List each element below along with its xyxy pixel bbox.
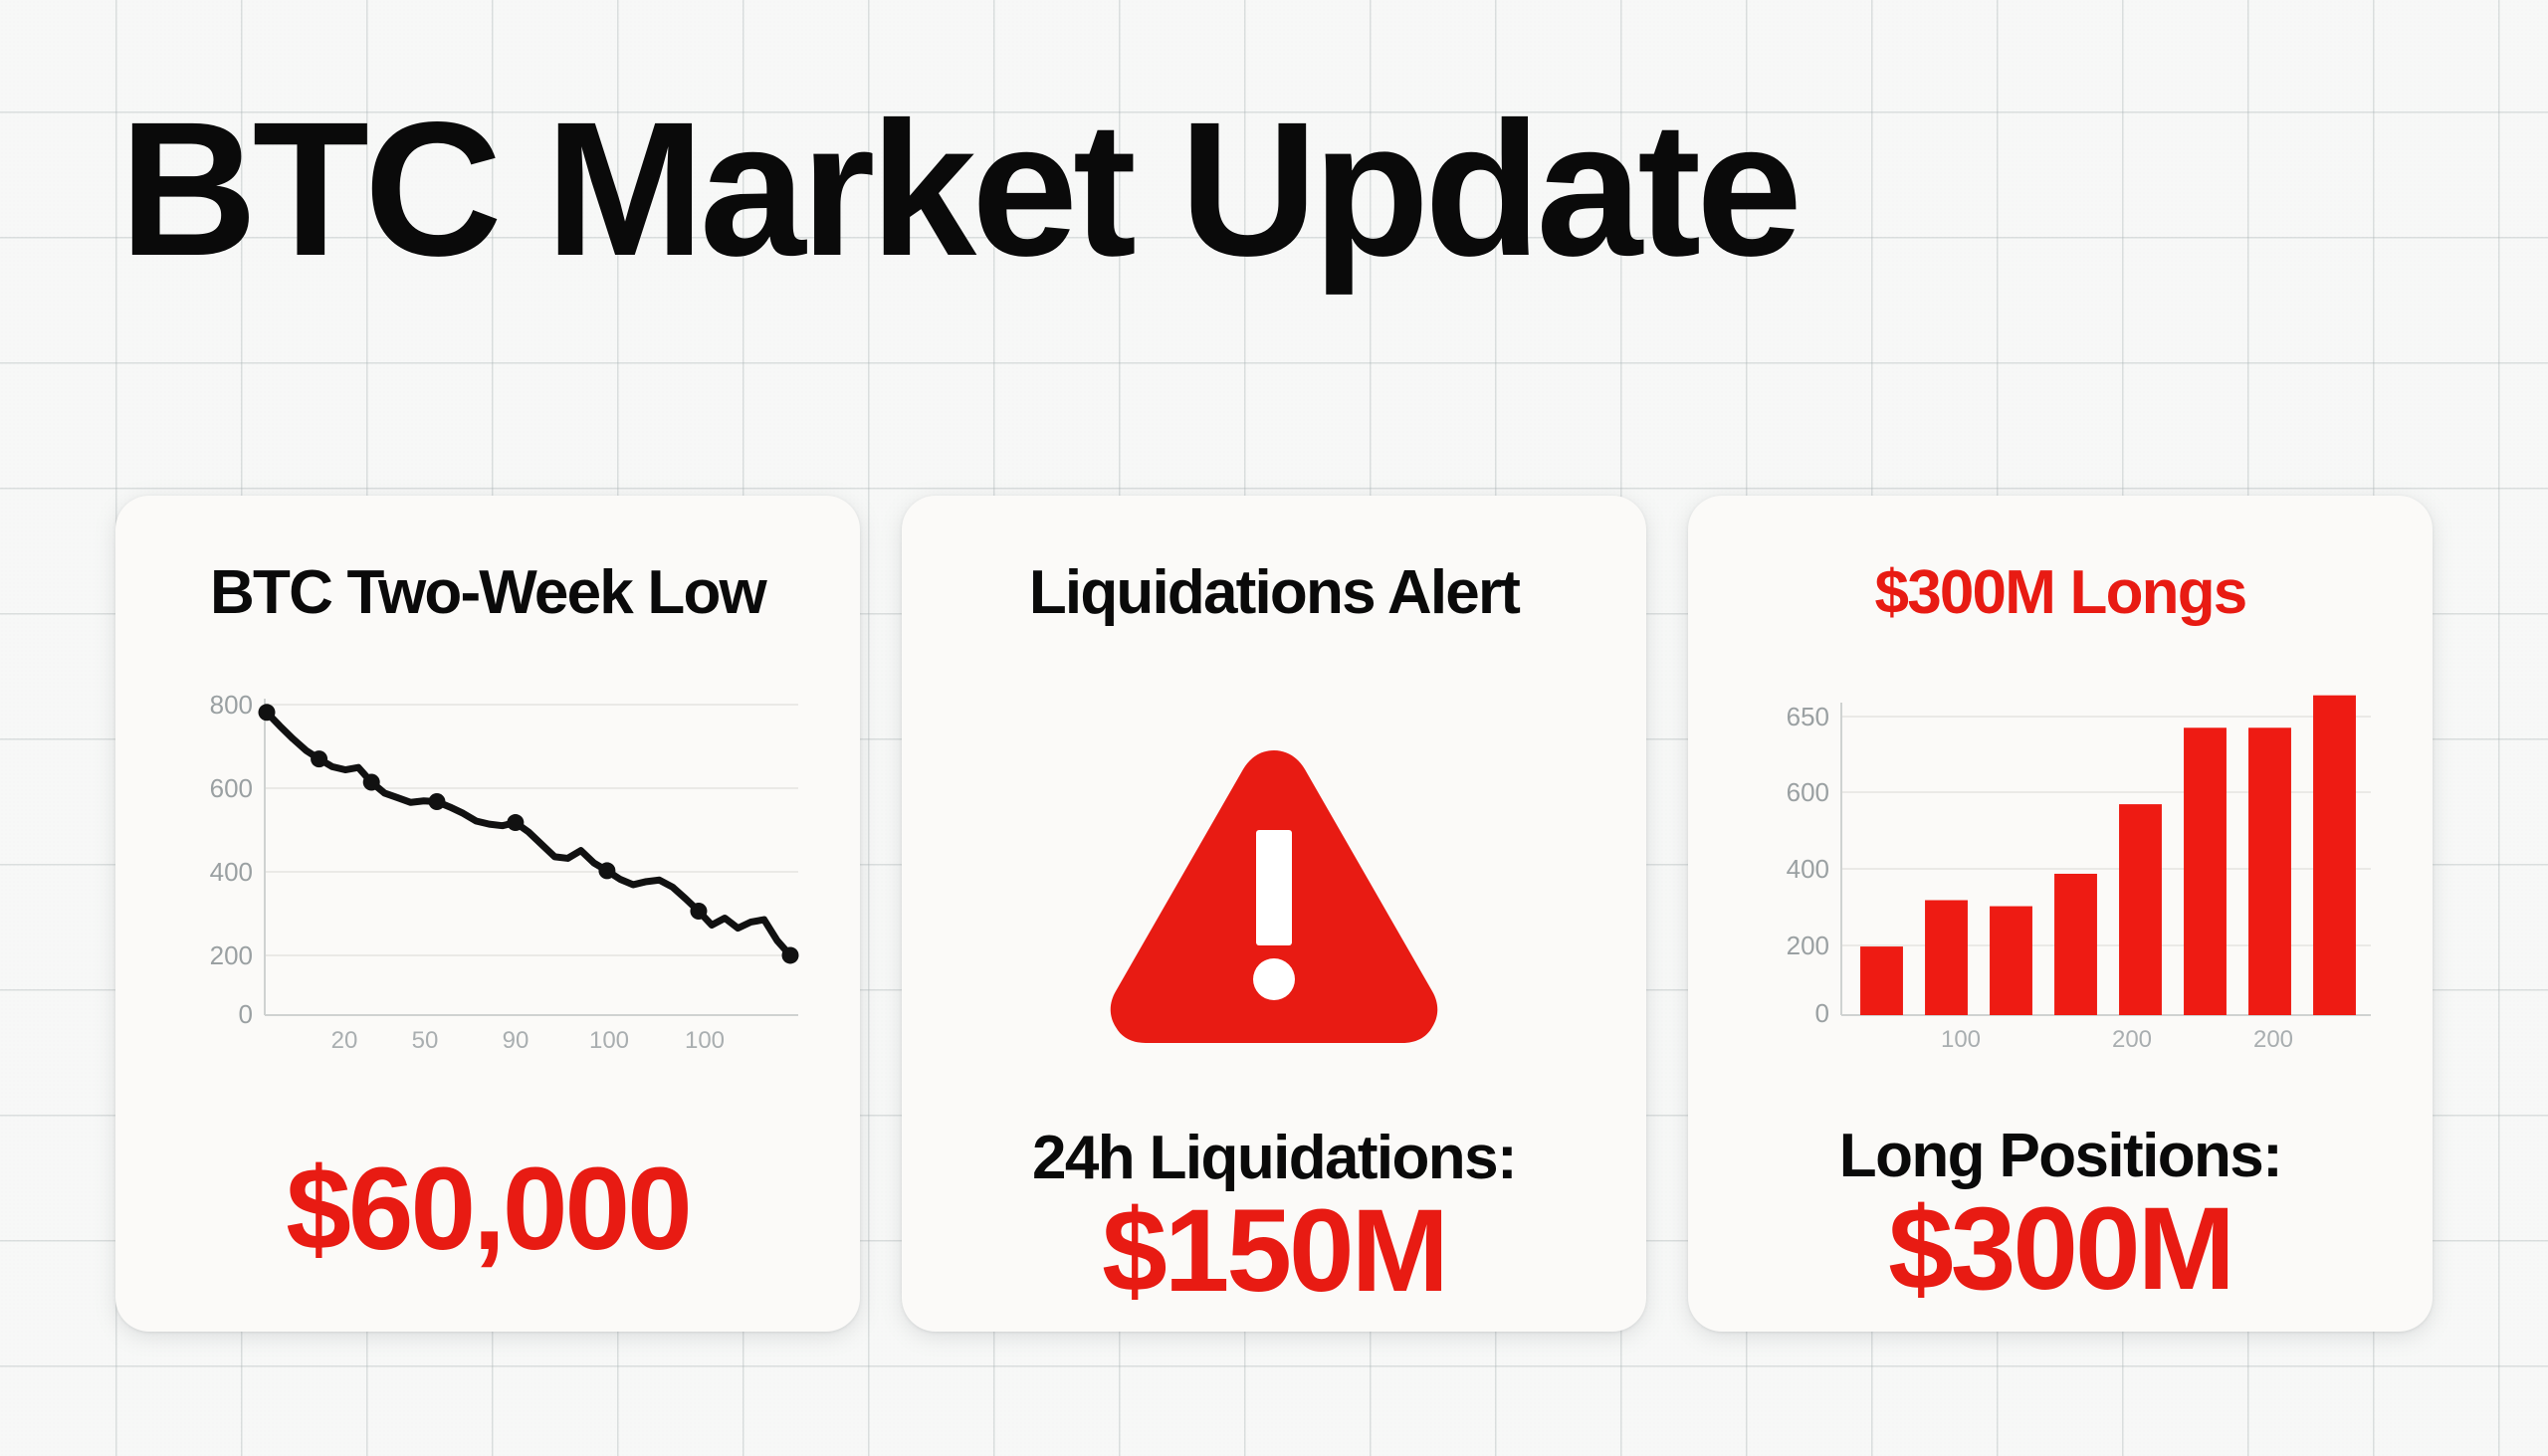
card-title-btc-low: BTC Two-Week Low [115,557,860,628]
bar [1990,907,2032,1015]
long-positions-bar-chart: 650 600 400 200 0 100 200 200 [1746,677,2379,1075]
price-line-marker [507,814,524,831]
x-tick-label: 100 [1941,1026,1981,1053]
y-tick-label: 200 [210,940,253,970]
y-tick-label: 800 [210,690,253,720]
price-line-marker [259,704,276,721]
bar [1860,946,1903,1015]
x-tick-label: 200 [2112,1026,2152,1053]
card-title-liquidations: Liquidations Alert [902,557,1646,628]
infographic-page: BTC Market Update BTC Two-Week Low [0,0,2548,1456]
bar [1925,901,1968,1016]
card-btc-two-week-low[interactable]: BTC Two-Week Low [115,496,860,1332]
card-long-positions[interactable]: $300M Longs 650 [1688,496,2433,1332]
y-tick-label: 600 [1787,777,1829,807]
x-tick-label: 100 [589,1027,629,1054]
axis-lines [265,699,798,1015]
long-positions-value: $300M [1688,1190,2433,1308]
warning-triangle-icon [902,687,1646,1095]
price-line-marker [598,862,615,879]
price-line-marker [782,946,799,963]
x-tick-label: 20 [331,1027,358,1054]
btc-low-value: $60,000 [115,1150,860,1268]
axis-lines [1841,703,2371,1015]
liquidations-caption: 24h Liquidations: [902,1123,1646,1193]
y-tick-label: 0 [239,999,253,1029]
cards-row: BTC Two-Week Low [0,496,2548,1332]
price-line-marker [363,774,380,791]
page-title: BTC Market Update [119,90,2429,289]
warning-triangle-svg [1105,736,1443,1045]
price-line [267,713,790,955]
bar-chart-svg: 650 600 400 200 0 100 200 200 [1746,677,2379,1075]
gridlines [1841,717,2371,945]
y-tick-label: 400 [1787,854,1829,884]
btc-price-line-chart: 800 600 400 200 0 20 50 90 100 100 [173,677,806,1075]
x-axis-tick-labels: 100 200 200 [1941,1026,2293,1053]
bar [2119,804,2162,1015]
y-tick-label: 600 [210,773,253,803]
y-axis-tick-labels: 650 600 400 200 0 [1787,702,1829,1028]
card-title-longs: $300M Longs [1688,557,2433,628]
y-axis-tick-labels: 800 600 400 200 0 [210,690,253,1029]
price-line-marker [428,793,445,810]
liquidations-value: $150M [902,1192,1646,1310]
x-tick-label: 50 [412,1027,439,1054]
x-tick-label: 90 [503,1027,530,1054]
bar [2184,728,2227,1015]
bar [2313,696,2356,1015]
y-tick-label: 400 [210,857,253,887]
x-axis-tick-labels: 20 50 90 100 100 [331,1027,725,1054]
y-tick-label: 650 [1787,702,1829,731]
y-tick-label: 0 [1815,998,1829,1028]
x-tick-label: 200 [2253,1026,2293,1053]
bar [2248,728,2291,1015]
x-tick-label: 100 [685,1027,725,1054]
bar-series [1860,696,2356,1015]
y-tick-label: 200 [1787,931,1829,960]
line-chart-svg: 800 600 400 200 0 20 50 90 100 100 [173,677,806,1075]
card-liquidations-alert[interactable]: Liquidations Alert 24h Liquidations: $15… [902,496,1646,1332]
bar [2054,874,2097,1015]
price-line-marker [311,750,327,767]
long-positions-caption: Long Positions: [1688,1121,2433,1191]
price-line-marker [690,903,707,920]
